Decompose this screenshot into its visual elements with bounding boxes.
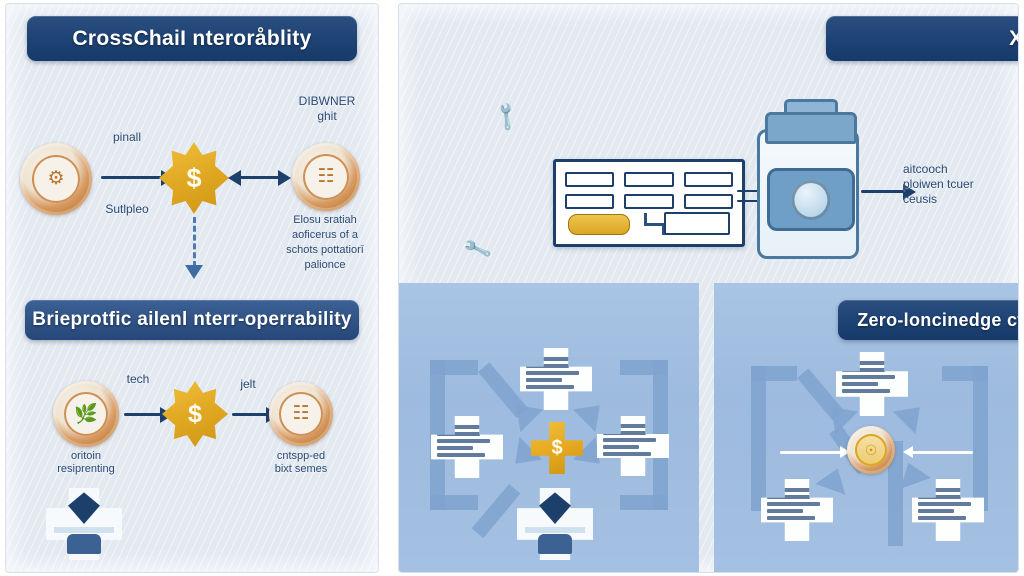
zk1-chevron-right-top <box>620 360 668 375</box>
flow-arrow-1-bottom-label: Sutlpleo <box>82 202 172 216</box>
token-symbol: $ <box>551 437 562 460</box>
dashed-down-arrow-head <box>185 265 203 279</box>
zk2-chevron-left-top <box>751 366 797 381</box>
gold-coin-icon-zk2: ☉ <box>847 426 895 474</box>
device-output-arrow-line <box>861 190 905 193</box>
infographic-canvas: CrossChaiI nteroråblity ⚙ pinall Sutlple… <box>0 0 1024 576</box>
flow-arrow-1-line <box>101 176 163 179</box>
token-symbol: $ <box>188 400 202 429</box>
node-row <box>603 438 656 442</box>
zk1-chevron-left-top <box>430 360 478 375</box>
node-row <box>526 378 562 382</box>
source-caption-line-1: oritoin <box>34 450 138 463</box>
copper-stack-coin-icon: ☷ <box>292 143 360 211</box>
target-caption-b-line-1: cntspp-ed <box>249 450 353 463</box>
target-caption-line-1: Elosu sratiah <box>265 214 378 227</box>
copper-shield-coin-icon: 🌿 <box>53 381 119 447</box>
node-row <box>767 502 820 506</box>
target-heading-line1: DIBWNER <box>277 94 377 108</box>
coin-inner-glyph: ⚙ <box>32 155 81 204</box>
coin-inner-glyph: 🌿 <box>64 392 109 437</box>
target-caption-line-2: aoficerus of a <box>265 229 378 242</box>
node-base <box>538 534 571 554</box>
node-row <box>437 453 485 457</box>
zk2-white-arrow-left-line <box>780 451 842 454</box>
key-doodle-icon: 🔧 <box>461 233 493 265</box>
flow-part <box>644 223 664 226</box>
node-base <box>67 534 100 554</box>
target-caption-line-3: schots pottatiorī <box>265 244 378 257</box>
flow-arrow-3-line <box>124 413 162 416</box>
wrench-doodle-icon: 🔧 <box>489 99 524 134</box>
node-row <box>842 389 890 393</box>
flow-arrow-2-head-right <box>278 170 291 186</box>
right-panel-title-banner: Xinmiley Creearitgs <box>826 16 1018 61</box>
ledger-tag <box>664 212 730 235</box>
flow-arrow-3-label: tech <box>106 372 170 386</box>
blue-diamond-node-icon <box>46 488 122 560</box>
flow-arrow-1-top-label: pinall <box>82 130 172 144</box>
device-top-panel <box>765 112 857 144</box>
ledger-bars <box>565 172 733 209</box>
device-window <box>767 168 855 231</box>
node-row <box>918 509 954 513</box>
output-caption-line-2: ploiwen tcuer <box>903 177 1013 191</box>
zk-section-1-banner: Zero-loncinedge ctiofs <box>838 300 1018 340</box>
coin-inner-glyph: ☷ <box>279 392 323 436</box>
target-caption-line-4: palionce <box>265 259 378 272</box>
output-caption-line-1: aitcooch <box>903 162 1013 176</box>
node-row <box>767 509 803 513</box>
target-caption-b-line-2: bixt semes <box>249 463 353 476</box>
dashed-down-connector <box>193 217 196 267</box>
blue-diamond-node-icon-zk1 <box>517 488 593 560</box>
zk2-chevron-left-stem <box>751 366 766 511</box>
node-row <box>603 445 639 449</box>
coin-inner-glyph: ☷ <box>303 154 349 200</box>
flow-arrow-4-label: jelt <box>218 377 278 391</box>
ledger-bar <box>684 172 733 187</box>
node-strip <box>54 527 115 533</box>
zk1-chevron-right-bottom <box>620 495 668 510</box>
node-row <box>437 439 490 443</box>
node-row <box>767 516 815 520</box>
device-porthole <box>791 180 830 220</box>
zk2-chevron-right-stem <box>973 366 988 511</box>
node-row <box>603 452 651 456</box>
zk1-chevron-left-bottom <box>430 495 478 510</box>
node-row <box>526 385 574 389</box>
node-row <box>842 375 895 379</box>
zk2-white-arrow-right-line <box>911 451 973 454</box>
left-panel-title-banner: CrossChaiI nteroråblity <box>27 16 357 61</box>
node-row <box>918 516 966 520</box>
copper-stack-coin-icon-2: ☷ <box>269 382 333 446</box>
left-panel-section-banner: Brieprotfic ailenl nterr-operrability <box>25 300 359 340</box>
ledger-bar <box>565 194 614 209</box>
node-row <box>526 371 579 375</box>
zk2-chevron-right-top <box>942 366 988 381</box>
ledger-bar <box>624 194 673 209</box>
flow-arrow-4-line <box>232 413 268 416</box>
left-panel: CrossChaiI nteroråblity ⚙ pinall Sutlple… <box>6 4 378 572</box>
ledger-bar <box>565 172 614 187</box>
flow-arrow-2-head-left <box>228 170 241 186</box>
node-row <box>437 446 473 450</box>
target-heading-line2: ghit <box>277 109 377 123</box>
node-strip <box>525 527 586 533</box>
right-panel: Xinmiley Creearitgs 🔧 🔧 <box>399 4 1018 572</box>
source-caption-line-2: resiprenting <box>34 463 138 476</box>
output-caption-line-3: ceusis <box>903 192 1013 206</box>
zk2-white-arrow-right-head <box>903 446 913 458</box>
ledger-bar <box>684 194 733 209</box>
ledger-card-icon <box>553 159 745 247</box>
node-row <box>842 382 878 386</box>
node-row <box>918 502 971 506</box>
coin-inner-glyph: ☉ <box>855 434 888 467</box>
token-symbol: $ <box>186 163 201 194</box>
ledger-gold-chip <box>568 214 630 235</box>
processing-device-icon <box>757 129 859 259</box>
ledger-bar <box>624 172 673 187</box>
